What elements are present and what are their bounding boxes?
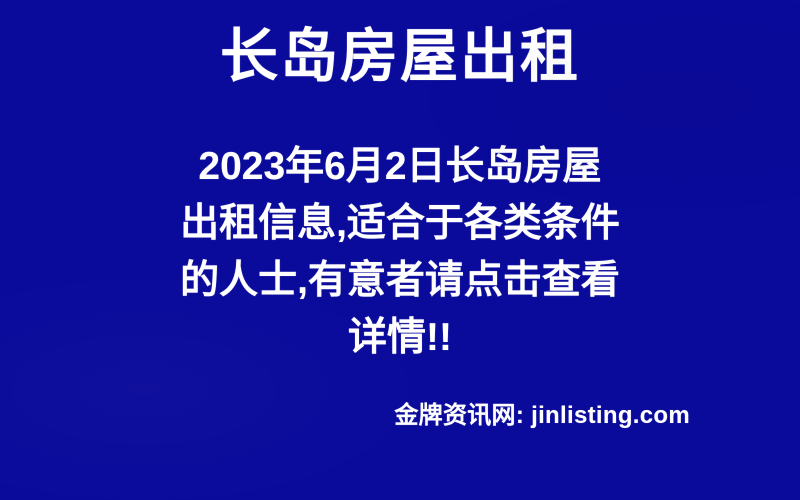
announcement-body: 2023年6月2日长岛房屋 出租信息,适合于各类条件 的人士,有意者请点击查看 …: [0, 138, 800, 366]
body-line: 出租信息,适合于各类条件: [0, 195, 800, 252]
rental-announcement-poster: 长岛房屋出租 2023年6月2日长岛房屋 出租信息,适合于各类条件 的人士,有意…: [0, 0, 800, 500]
footer-block: 金牌资讯网: jinlisting.com: [0, 400, 800, 432]
page-title: 长岛房屋出租: [220, 22, 580, 92]
body-line: 的人士,有意者请点击查看: [0, 252, 800, 309]
body-line: 2023年6月2日长岛房屋: [0, 138, 800, 195]
site-credit: 金牌资讯网: jinlisting.com: [394, 400, 690, 432]
body-line: 详情!!: [0, 309, 800, 366]
title-block: 长岛房屋出租: [0, 22, 800, 92]
